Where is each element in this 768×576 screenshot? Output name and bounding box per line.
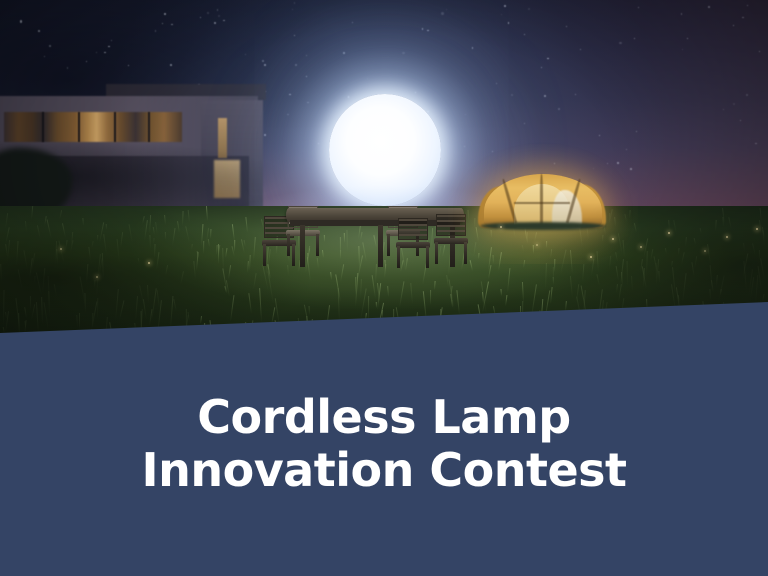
house-window-strip — [4, 112, 182, 142]
patio-chair — [434, 214, 468, 262]
scene-photo — [0, 0, 768, 350]
house-building — [0, 56, 296, 206]
poster-banner: Cordless Lamp Innovation Contest — [0, 0, 768, 576]
camping-tent — [478, 168, 608, 230]
patio-furniture-group — [268, 196, 488, 276]
patio-chair — [396, 218, 430, 266]
page-title: Cordless Lamp Innovation Contest — [0, 391, 768, 497]
